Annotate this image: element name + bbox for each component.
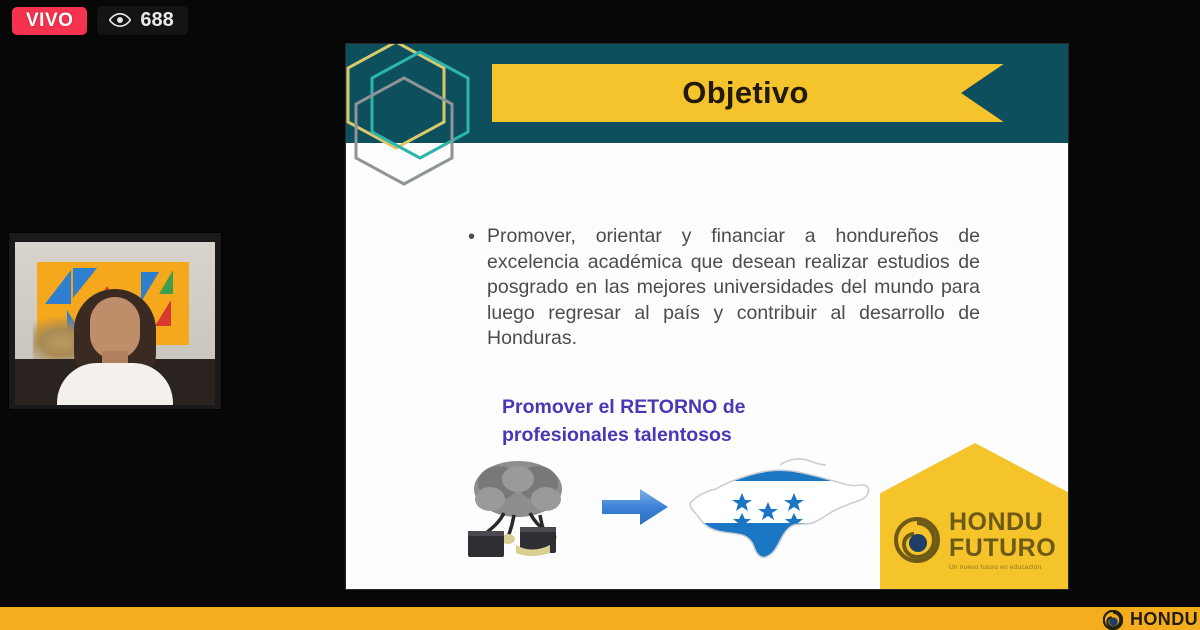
logo-tagline: Un nuevo futuro en educación [949,565,1056,572]
bullet-dot-icon: • [468,224,475,250]
hondufuturo-spiral-icon [894,517,940,563]
footer-bar: HONDU [0,607,1200,630]
footer-logo-text: HONDU [1130,609,1198,630]
hondufuturo-spiral-icon [1103,610,1123,630]
bullet-text: Promover, orientar y financiar a hondure… [487,224,980,352]
highlight-line-1: Promover el RETORNO de [502,393,745,421]
eye-icon [109,13,131,27]
webcam-video [15,242,215,405]
right-arrow-icon [600,487,670,527]
hondufuturo-wordmark: HONDU FUTURO Un nuevo futuro en educació… [949,510,1056,572]
stream-stage: VIVO 688 [0,0,1200,630]
brain-drain-icon [454,455,582,561]
bullet-item: • Promover, orientar y financiar a hondu… [468,224,980,352]
live-badge: VIVO [12,7,87,35]
honduras-flag-map-icon [676,451,881,563]
presenter-webcam[interactable] [8,232,222,410]
presenter-white-top [57,363,173,405]
slide-bullet-list: • Promover, orientar y financiar a hondu… [468,224,980,352]
logo-word-top: HONDU [949,510,1056,535]
viewer-count-value: 688 [140,10,173,30]
presenter-figure [56,285,174,405]
stream-status-badges: VIVO 688 [12,6,188,35]
slide-title: Objetivo [682,75,808,111]
presenter-face [90,297,140,359]
highlight-text-block: Promover el RETORNO de profesionales tal… [502,393,745,449]
footer-logo: HONDU [1103,609,1198,630]
slide-title-ribbon: Objetivo [492,64,1025,122]
highlight-line-2: profesionales talentosos [502,421,745,449]
slide-illustration [454,449,874,567]
hondufuturo-logo: HONDU FUTURO Un nuevo futuro en educació… [880,443,1068,589]
presentation-slide: Objetivo • Promover, orientar y financia… [346,44,1068,589]
viewer-count-badge: 688 [97,6,187,35]
logo-word-bottom: FUTURO [949,536,1056,561]
